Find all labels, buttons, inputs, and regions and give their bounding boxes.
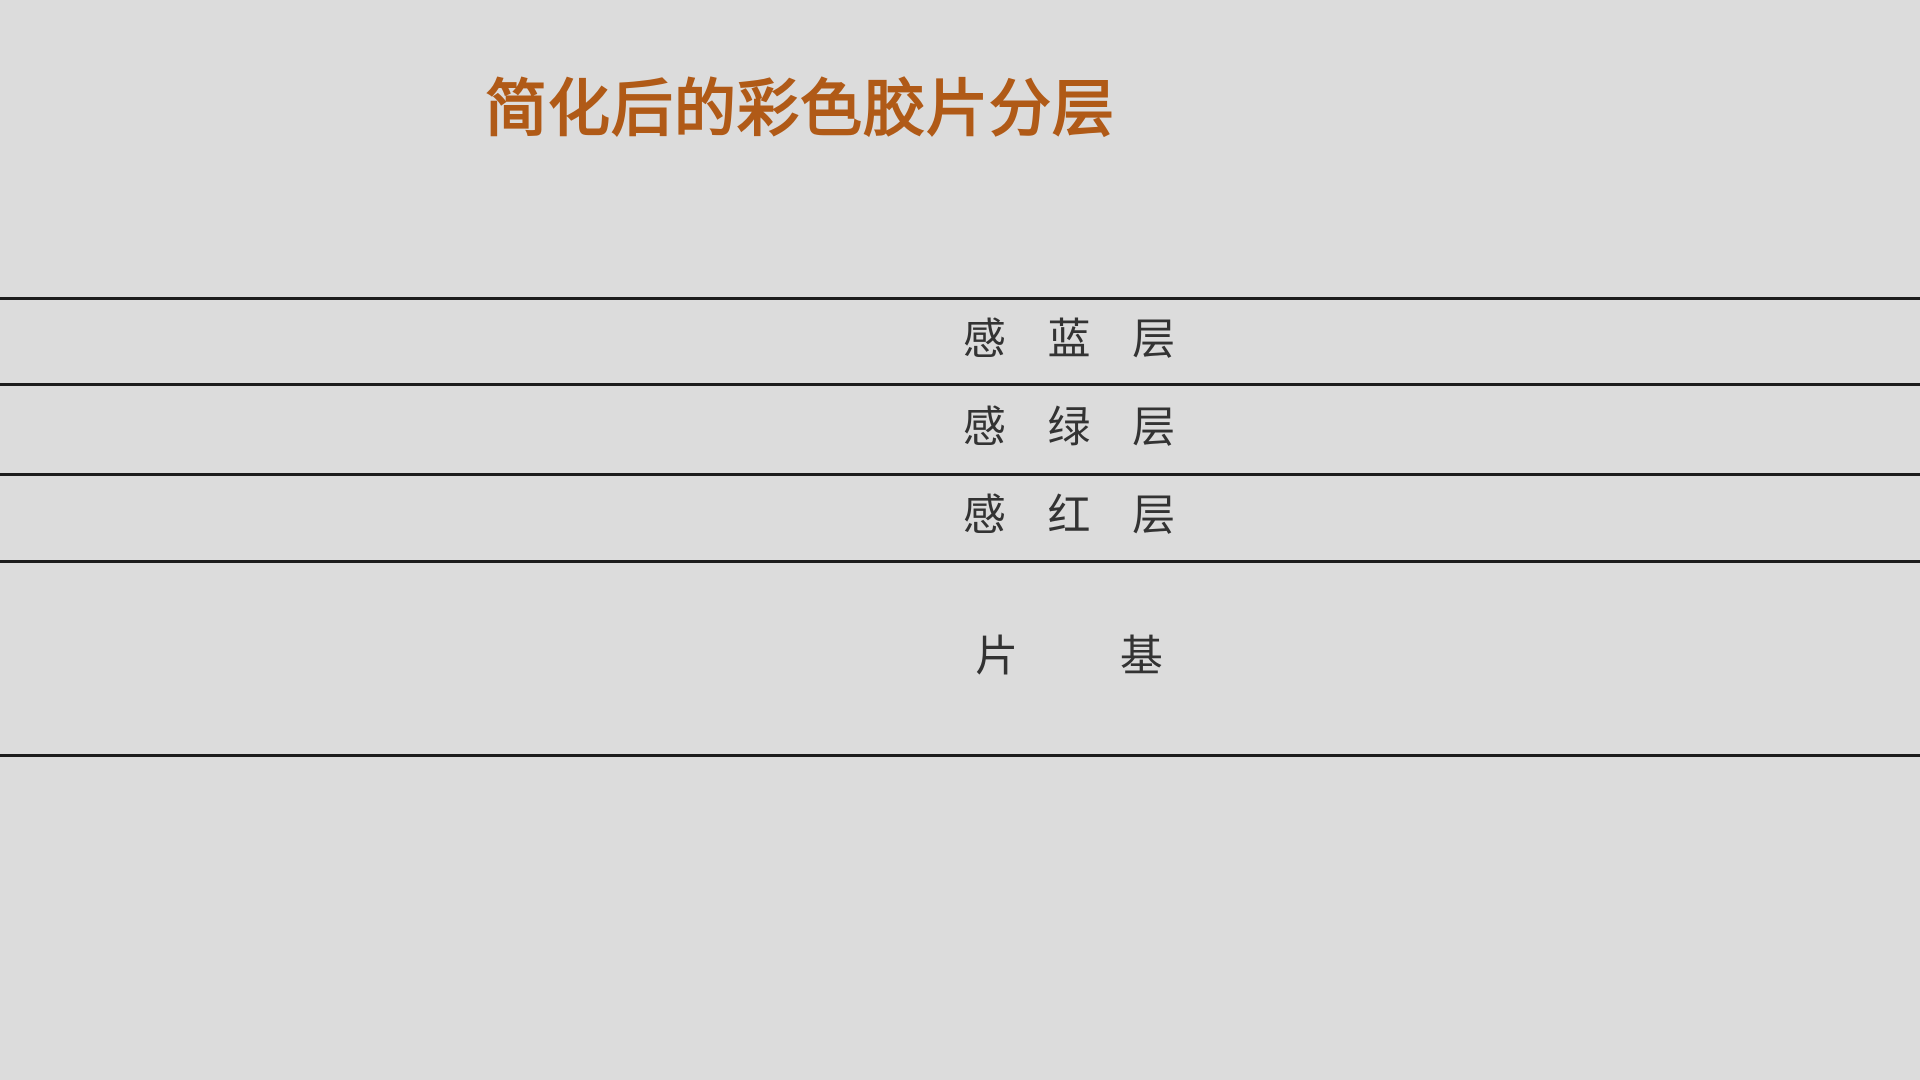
layer-row-green-sensitive: 感 绿 层 [0,383,1920,473]
layer-label-film-base: 片 基 [931,636,1207,679]
layer-label-green-sensitive: 感 绿 层 [949,407,1189,450]
page-title: 简化后的彩色胶片分层 [0,72,1600,146]
layer-row-film-base: 片 基 [0,560,1920,754]
layer-label-red-sensitive: 感 红 层 [949,495,1189,538]
layer-label-blue-sensitive: 感 蓝 层 [949,319,1189,362]
layer-row-blue-sensitive: 感 蓝 层 [0,297,1920,383]
divider-line-bottom [0,754,1920,757]
slide-canvas: 简化后的彩色胶片分层 感 蓝 层 感 绿 层 感 红 层 片 基 [0,0,1920,1080]
layer-row-red-sensitive: 感 红 层 [0,473,1920,560]
